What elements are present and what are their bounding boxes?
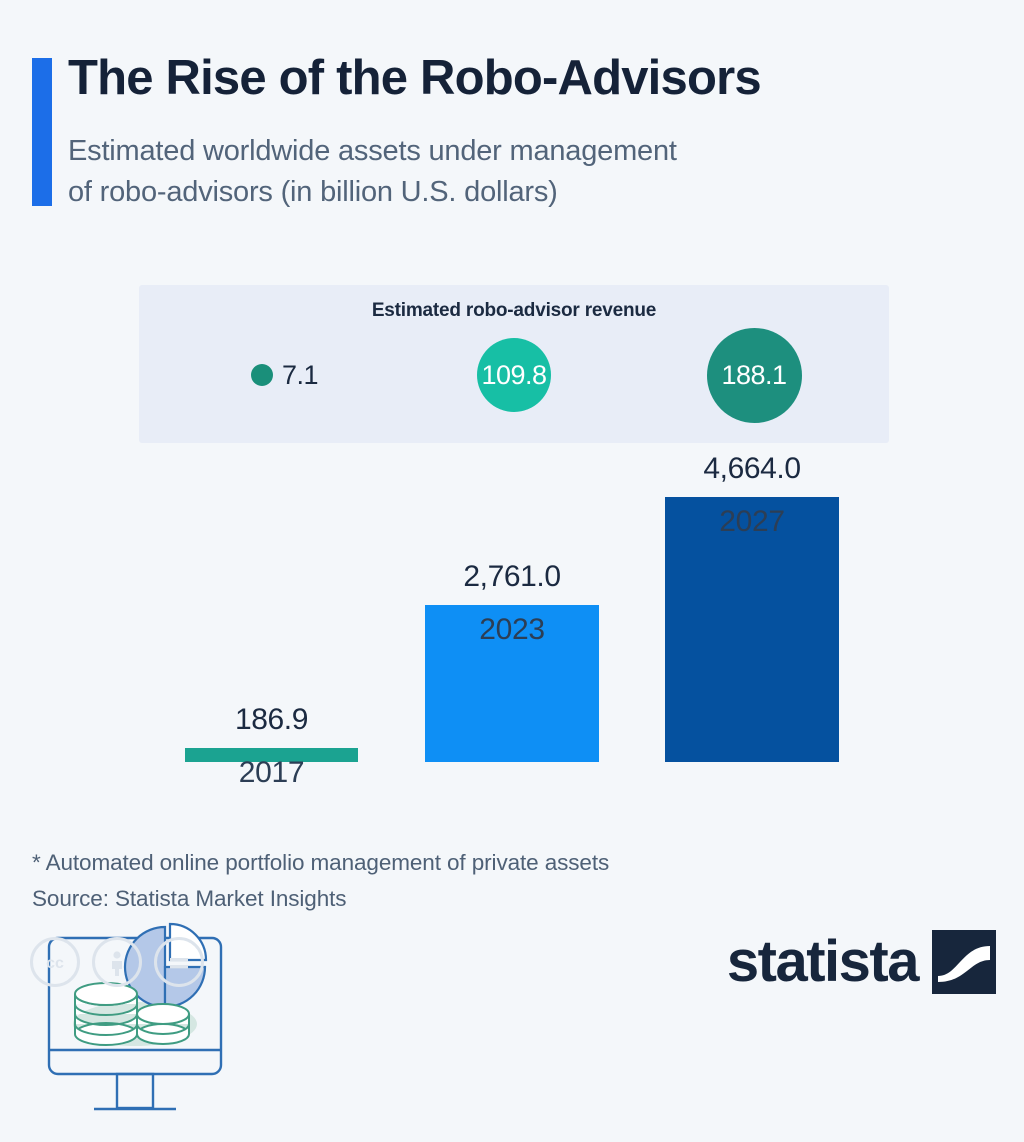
attribution-person-icon[interactable]: [92, 937, 142, 987]
revenue-bubble-label-2017: 7.1: [282, 360, 318, 391]
person-glyph: [101, 946, 133, 978]
statista-mark-icon: [932, 930, 996, 994]
bar-year-label-2023: 2023: [425, 613, 599, 647]
no-derivatives-equals-icon[interactable]: [154, 937, 204, 987]
bar-value-2017: 186.9: [185, 703, 358, 737]
subtitle-line-1: Estimated worldwide assets under managem…: [68, 131, 677, 172]
revenue-panel-title: Estimated robo-advisor revenue: [139, 300, 889, 322]
creative-commons-badges: cc: [30, 937, 204, 987]
title-accent-bar: [32, 58, 52, 206]
bar-column-2023: 2,761.0 2023: [425, 605, 599, 762]
revenue-bubble-label-2023: 109.8: [477, 338, 551, 412]
bar-chart: 186.9 2017 2,761.0 2023 4,664.0 2027: [0, 450, 1024, 820]
page-title: The Rise of the Robo-Advisors: [68, 50, 761, 106]
bar-year-label-2017: 2017: [185, 756, 358, 790]
revenue-panel: Estimated robo-advisor revenue 7.1 109.8…: [139, 285, 889, 443]
bar-column-2017: 186.9 2017: [185, 748, 358, 762]
bar-year-label-2027: 2027: [665, 505, 839, 539]
revenue-bubble-dot-2017: [251, 364, 273, 386]
statista-wordmark: statista: [727, 933, 918, 991]
footnote-text: * Automated online portfolio management …: [32, 845, 609, 881]
subtitle-line-2: of robo-advisors (in billion U.S. dollar…: [68, 172, 677, 213]
revenue-bubble-2023: 109.8: [439, 330, 589, 420]
cc-glyph: cc: [39, 946, 71, 978]
bar-value-2027: 4,664.0: [665, 452, 839, 486]
statista-logo[interactable]: statista: [727, 930, 996, 994]
equals-glyph: [163, 946, 195, 978]
bar-column-2027: 4,664.0 2027: [665, 497, 839, 762]
bar-value-2023: 2,761.0: [425, 560, 599, 594]
revenue-bubble-2027: 188.1: [674, 320, 834, 430]
revenue-bubble-label-2027: 188.1: [707, 328, 802, 423]
header: The Rise of the Robo-Advisors Estimated …: [0, 0, 1024, 230]
page-subtitle: Estimated worldwide assets under managem…: [68, 131, 677, 213]
revenue-bubble-2017: 7.1: [251, 345, 411, 405]
source-text: Source: Statista Market Insights: [32, 881, 609, 917]
footnote-block: * Automated online portfolio management …: [32, 845, 609, 917]
cc-icon[interactable]: cc: [30, 937, 80, 987]
svg-text:cc: cc: [46, 955, 64, 972]
